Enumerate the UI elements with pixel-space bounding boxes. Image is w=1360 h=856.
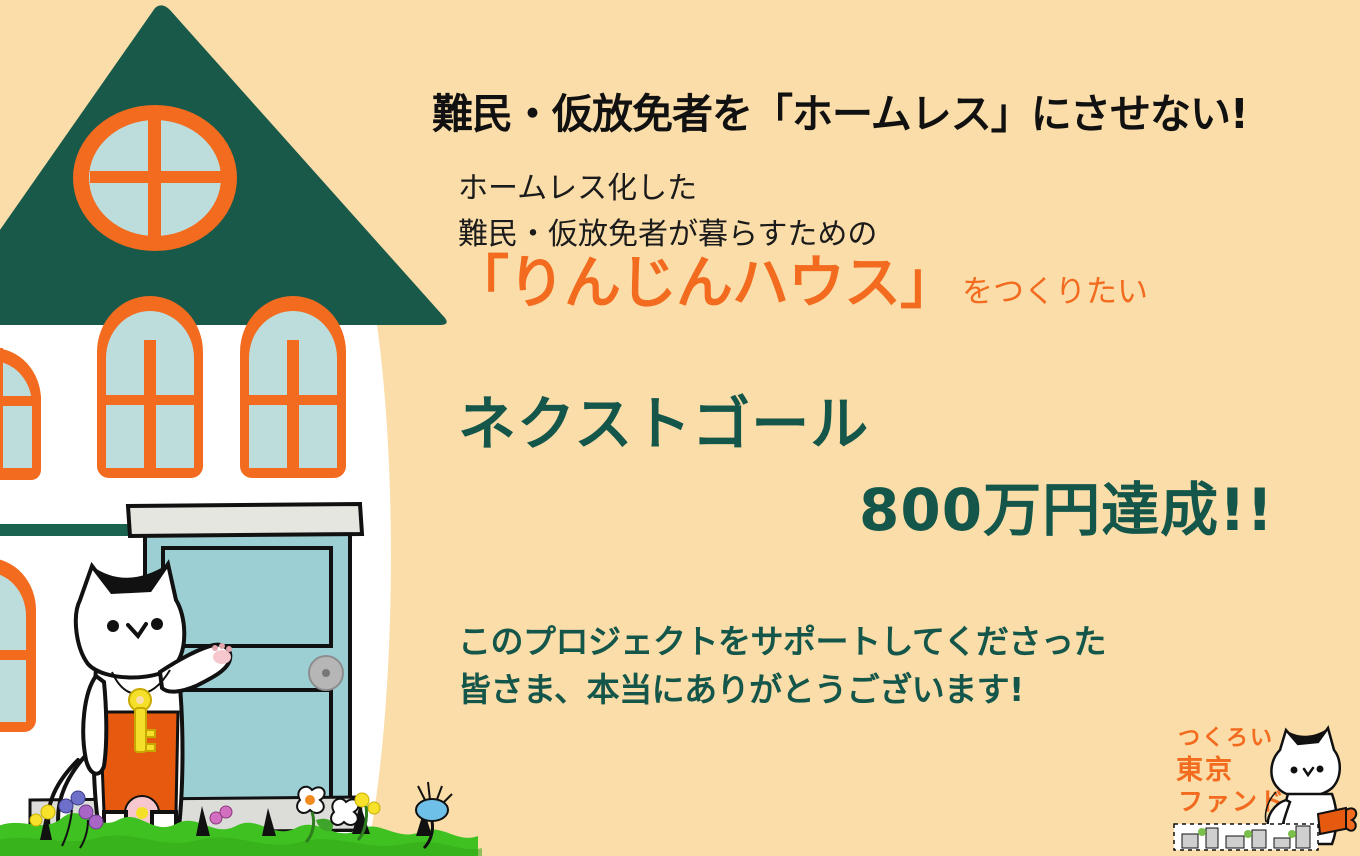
thanks-block: このプロジェクトをサポートしてくださった 皆さま、本当にありがとうございます! [458,618,1278,714]
brand-suffix: をつくりたい [962,274,1148,310]
goal-block: ネクストゴール 800万円達成!! [458,390,1298,545]
brand-line: 「りんじんハウス」をつくりたい [452,255,1352,312]
text-column: 難民・仮放免者を「ホームレス」にさせない! ホームレス化した 難民・仮放免者が暮… [0,0,1360,856]
brand-name: 「りんじんハウス」 [452,250,956,316]
logo-cat-mascot [1168,716,1360,856]
tsukuroi-tokyo-fund-logo: つくろい 東京 ファンド [1168,716,1360,856]
goal-line-1: ネクストゴール [458,390,1298,458]
goal-line-2: 800万円達成!! [458,476,1298,544]
subtitle-line-1: ホームレス化した [458,163,1318,207]
subtitle-line-2: 難民・仮放免者が暮らすための [458,209,1318,253]
headline: 難民・仮放免者を「ホームレス」にさせない! [432,80,1292,140]
thanks-line-1: このプロジェクトをサポートしてくださった [458,618,1278,666]
poster-canvas: 難民・仮放免者を「ホームレス」にさせない! ホームレス化した 難民・仮放免者が暮… [0,0,1360,856]
thanks-line-2: 皆さま、本当にありがとうございます! [458,666,1278,714]
